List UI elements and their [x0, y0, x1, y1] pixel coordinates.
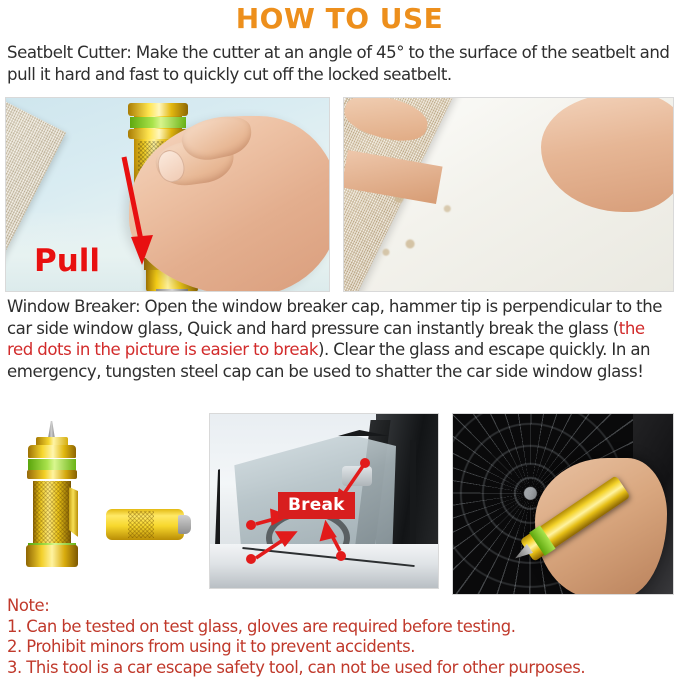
- page-title: HOW TO USE: [0, 2, 679, 35]
- cap-tungsten-tip: [178, 515, 191, 534]
- note-item-1: 1. Can be tested on test glass, gloves a…: [7, 617, 673, 638]
- tool-top-collar: [28, 445, 76, 458]
- how-to-use-infographic: HOW TO USE Seatbelt Cutter: Make the cut…: [0, 0, 679, 677]
- pull-callout-label: Pull: [34, 243, 100, 279]
- photo-product-tool: [8, 417, 198, 580]
- note-item-3: 3. This tool is a car escape safety tool…: [7, 658, 673, 678]
- tool-removable-cap: [106, 509, 186, 541]
- photo-car-window-break-points: Break: [209, 413, 439, 589]
- window-breaker-tool: [30, 435, 74, 565]
- tool-tip-bottom: [156, 289, 188, 292]
- break-callout-label: Break: [278, 492, 355, 519]
- window-breaker-text-part1: Window Breaker: Open the window breaker …: [7, 297, 662, 338]
- photo-shattered-glass: [452, 413, 674, 595]
- note-heading: Note:: [7, 596, 673, 617]
- seatbelt-cutter-instructions: Seatbelt Cutter: Make the cutter at an a…: [7, 42, 673, 85]
- note-item-2: 2. Prohibit minors from using it to prev…: [7, 637, 673, 658]
- tool-green-band-top: [130, 117, 186, 128]
- cap-knurl: [128, 511, 154, 538]
- window-breaker-instructions: Window Breaker: Open the window breaker …: [7, 296, 673, 382]
- tool-flange-top: [128, 103, 188, 116]
- tool-pocket-clip: [69, 487, 78, 537]
- photo-seatbelt-cutting: Pull: [5, 97, 330, 292]
- hand-holding-strap: [541, 97, 674, 212]
- pull-arrow-icon: [116, 153, 162, 268]
- tool-ring-upper: [27, 470, 77, 479]
- tool-base: [26, 545, 78, 567]
- tool-knurled-body: [33, 481, 71, 543]
- note-block: Note: 1. Can be tested on test glass, gl…: [7, 596, 673, 678]
- tool-green-band-upper: [28, 459, 76, 470]
- photo-cut-seatbelt-result: [343, 97, 674, 292]
